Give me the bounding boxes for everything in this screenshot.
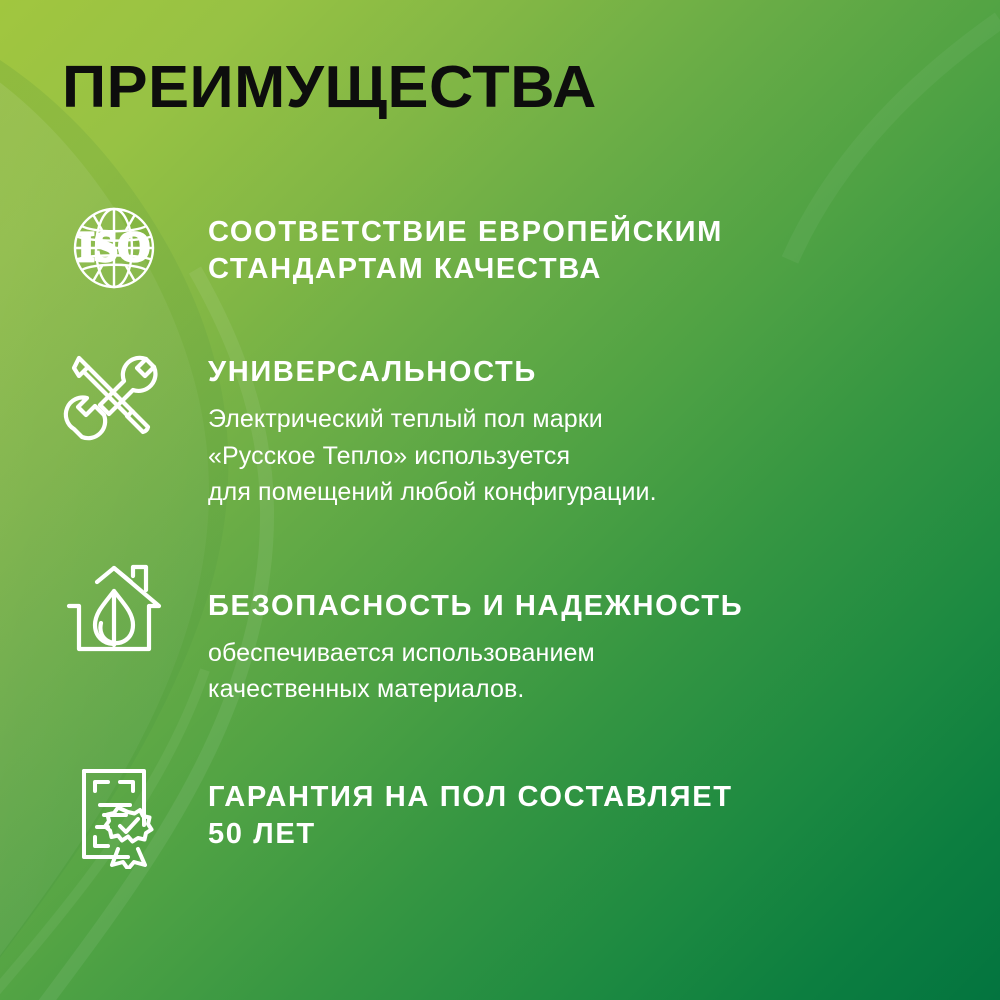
features-list: ISO СООТВЕТСТВИЕ ЕВРОПЕЙСКИМ СТАНДАРТАМ … [0, 196, 1000, 869]
certificate-icon [58, 765, 170, 869]
feature-description: обеспечивается использованием качественн… [208, 635, 960, 708]
feature-body: ГАРАНТИЯ НА ПОЛ СОСТАВЛЯЕТ 50 ЛЕТ [208, 765, 1000, 853]
feature-description: Электрический теплый пол марки «Русское … [208, 401, 960, 511]
feature-body: УНИВЕРСАЛЬНОСТЬ Электрический теплый пол… [208, 346, 1000, 511]
iso-globe-icon: ISO [58, 196, 170, 300]
feature-body: БЕЗОПАСНОСТЬ И НАДЕЖНОСТЬ обеспечивается… [208, 559, 1000, 708]
house-flame-icon [58, 559, 170, 663]
feature-body: СООТВЕТСТВИЕ ЕВРОПЕЙСКИМ СТАНДАРТАМ КАЧЕ… [208, 196, 1000, 288]
tools-icon [58, 346, 170, 450]
iso-icon-label: ISO [78, 225, 150, 271]
feature-item-universality: УНИВЕРСАЛЬНОСТЬ Электрический теплый пол… [0, 346, 1000, 511]
feature-heading: СООТВЕТСТВИЕ ЕВРОПЕЙСКИМ СТАНДАРТАМ КАЧЕ… [208, 214, 975, 288]
feature-item-iso: ISO СООТВЕТСТВИЕ ЕВРОПЕЙСКИМ СТАНДАРТАМ … [0, 196, 1000, 300]
page-title: ПРЕИМУЩЕСТВА [62, 57, 597, 119]
feature-heading: БЕЗОПАСНОСТЬ И НАДЕЖНОСТЬ [208, 588, 975, 625]
promo-poster: ПРЕИМУЩЕСТВА [0, 0, 1000, 1000]
feature-item-safety: БЕЗОПАСНОСТЬ И НАДЕЖНОСТЬ обеспечивается… [0, 559, 1000, 708]
feature-heading: ГАРАНТИЯ НА ПОЛ СОСТАВЛЯЕТ 50 ЛЕТ [208, 779, 975, 853]
feature-item-warranty: ГАРАНТИЯ НА ПОЛ СОСТАВЛЯЕТ 50 ЛЕТ [0, 765, 1000, 869]
feature-heading: УНИВЕРСАЛЬНОСТЬ [208, 354, 975, 391]
